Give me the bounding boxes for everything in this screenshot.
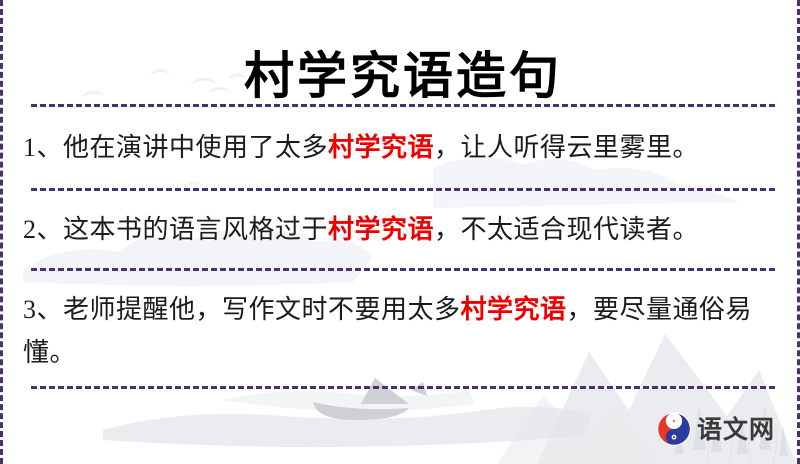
sentence-row-1: 1、他在演讲中使用了太多村学究语，让人听得云里雾里。 [23, 126, 785, 169]
yinyang-fish-logo-icon [657, 412, 691, 446]
sentence-text-before-2: 这本书的语言风格过于 [63, 215, 328, 244]
sentence-index-3: 3、 [23, 295, 63, 324]
keyword-highlight-1: 村学究语 [328, 133, 434, 162]
sentence-row-2: 2、这本书的语言风格过于村学究语，不太适合现代读者。 [23, 208, 785, 251]
site-logo[interactable]: 语文网 [657, 412, 775, 446]
page-title: 村学究语造句 [244, 48, 562, 103]
divider-4 [31, 386, 775, 389]
keyword-highlight-3: 村学究语 [461, 295, 567, 324]
divider-2 [31, 188, 775, 191]
boat-watermark-icon [63, 370, 623, 464]
sentence-text-before-3: 老师提醒他，写作文时不要用太多 [63, 295, 461, 324]
sentence-row-3: 3、老师提醒他，写作文时不要用太多村学究语，要尽量通俗易懂。 [23, 288, 785, 374]
sentence-index-1: 1、 [23, 133, 63, 162]
sentence-index-2: 2、 [23, 215, 63, 244]
sentence-text-after-2: ，不太适合现代读者。 [434, 215, 699, 244]
worksheet-page: 村学究语造句 1、他在演讲中使用了太多村学究语，让人听得云里雾里。 2、这本书的… [0, 0, 800, 464]
keyword-highlight-2: 村学究语 [328, 215, 434, 244]
page-title-container: 村学究语造句 [3, 14, 800, 136]
site-logo-text: 语文网 [697, 417, 775, 442]
sentence-text-before-1: 他在演讲中使用了太多 [63, 133, 328, 162]
divider-3 [31, 268, 775, 271]
sentence-text-after-1: ，让人听得云里雾里。 [434, 133, 699, 162]
